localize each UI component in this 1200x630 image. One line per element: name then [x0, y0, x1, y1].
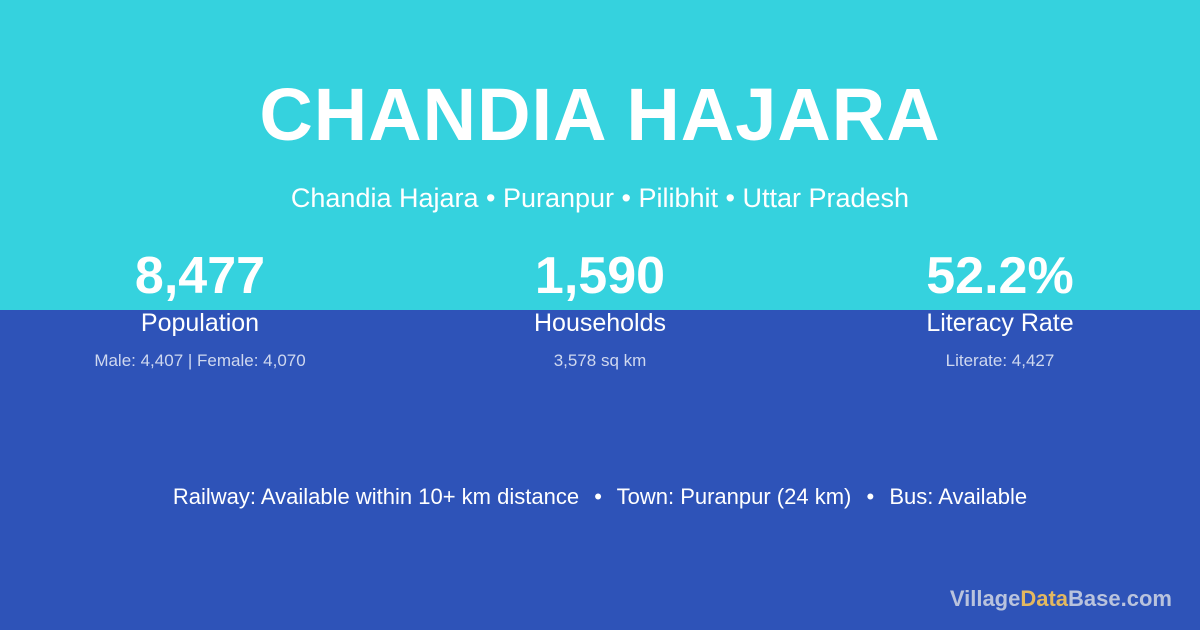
facility-town: Town: Puranpur (24 km): [617, 484, 852, 509]
facility-separator-2: •: [858, 484, 884, 509]
stat-label: Households: [400, 307, 800, 340]
brand-part-village: Village: [950, 586, 1021, 611]
facilities-line: Railway: Available within 10+ km distanc…: [0, 483, 1200, 512]
stat-households: 1,590 Households 3,578 sq km: [400, 248, 800, 372]
page-title: CHANDIA HAJARA: [0, 78, 1200, 152]
facility-bus: Bus: Available: [889, 484, 1027, 509]
brand-part-base: Base.com: [1068, 586, 1172, 611]
stat-value: 1,590: [400, 248, 800, 305]
brand-part-data: Data: [1020, 586, 1068, 611]
site-branding: VillageDataBase.com: [950, 586, 1172, 612]
stat-value: 52.2%: [800, 248, 1200, 305]
stat-note: 3,578 sq km: [400, 349, 800, 373]
stat-label: Population: [0, 307, 400, 340]
stat-note: Literate: 4,427: [800, 349, 1200, 373]
breadcrumb: Chandia Hajara • Puranpur • Pilibhit • U…: [0, 182, 1200, 214]
facility-railway: Railway: Available within 10+ km distanc…: [173, 484, 579, 509]
stats-row: 8,477 Population Male: 4,407 | Female: 4…: [0, 248, 1200, 372]
stat-value: 8,477: [0, 248, 400, 305]
facility-separator-1: •: [585, 484, 611, 509]
stat-population: 8,477 Population Male: 4,407 | Female: 4…: [0, 248, 400, 372]
stat-literacy-rate: 52.2% Literacy Rate Literate: 4,427: [800, 248, 1200, 372]
stat-note: Male: 4,407 | Female: 4,070: [0, 349, 400, 373]
village-info-card: CHANDIA HAJARA Chandia Hajara • Puranpur…: [0, 0, 1200, 630]
stat-label: Literacy Rate: [800, 307, 1200, 340]
